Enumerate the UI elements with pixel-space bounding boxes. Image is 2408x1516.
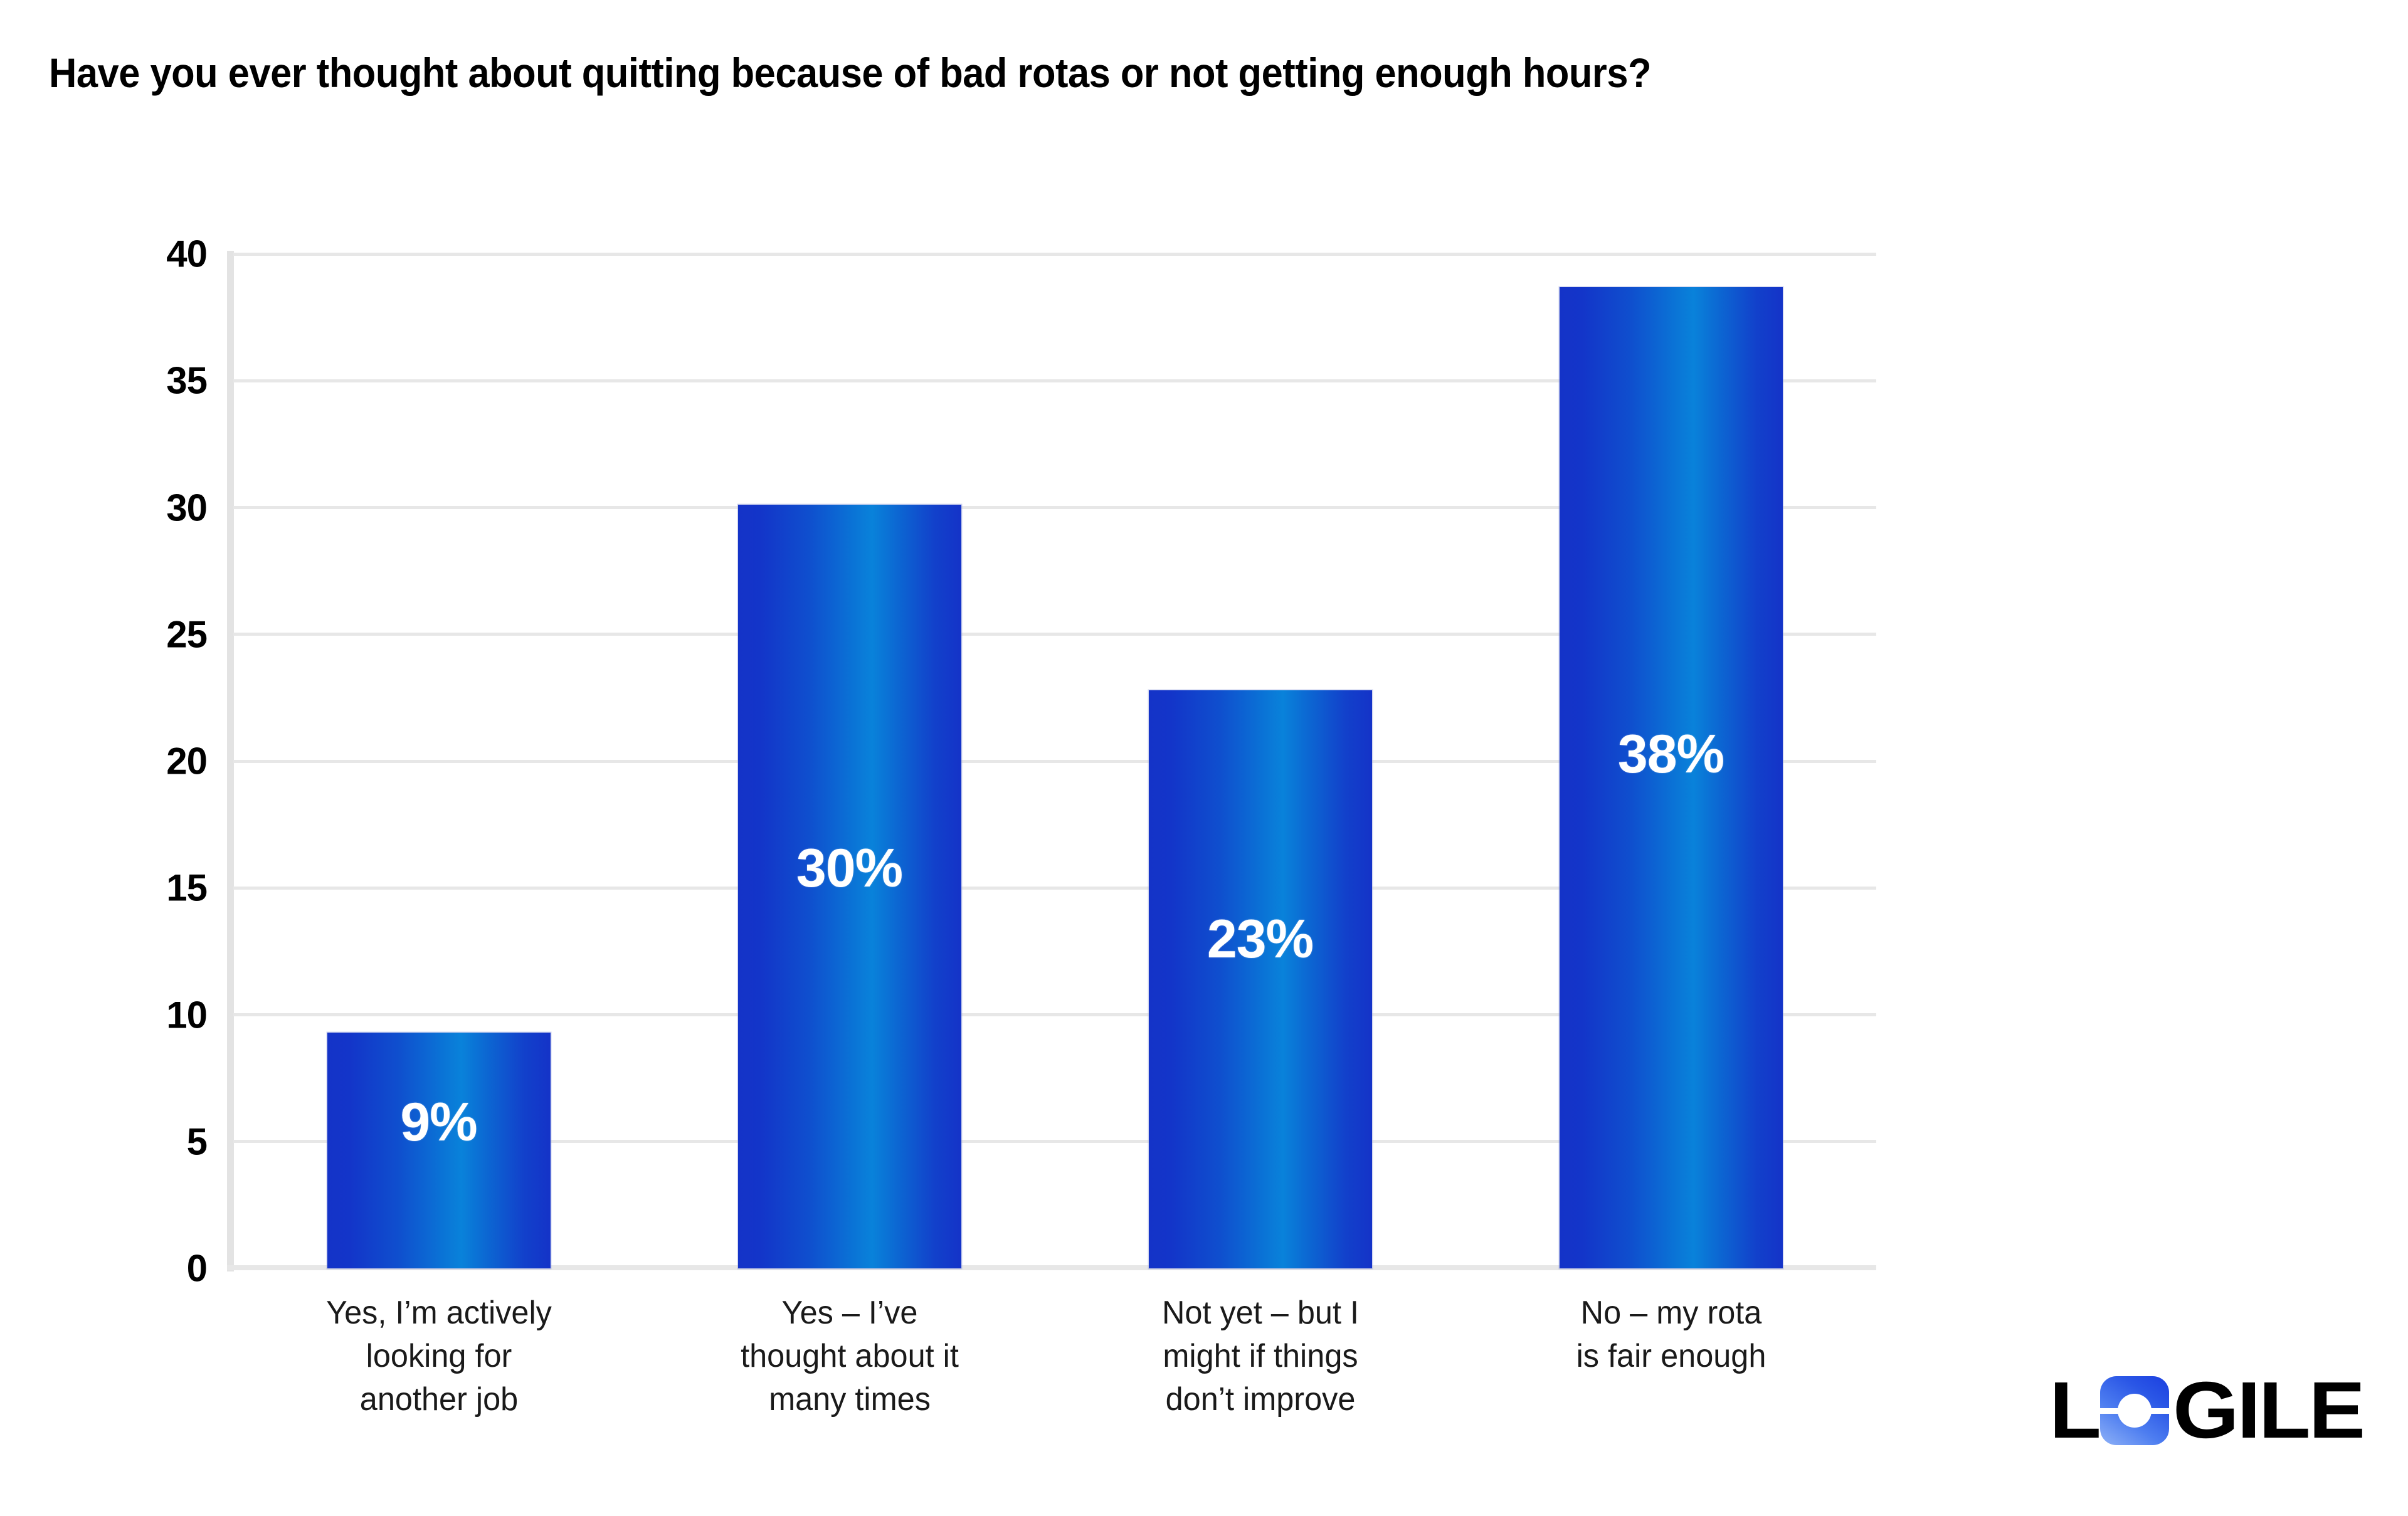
y-axis-tick-label: 35: [113, 359, 207, 403]
category-label-line: looking for: [305, 1335, 573, 1378]
category-label-line: Yes – I’ve: [716, 1292, 983, 1335]
category-label-line: No – my rota: [1537, 1292, 1805, 1335]
logile-logo: L GILE: [2049, 1372, 2353, 1450]
y-axis-tick-label: 30: [113, 486, 207, 529]
category-label-line: don’t improve: [1126, 1378, 1394, 1421]
logile-o-mark-icon: [2100, 1376, 2169, 1445]
bar-value-label: 23%: [1149, 908, 1372, 971]
gridline: [233, 253, 1876, 256]
category-label-line: thought about it: [716, 1335, 983, 1378]
bar-value-label: 9%: [327, 1092, 551, 1154]
y-axis-tick-label: 5: [113, 1120, 207, 1163]
logo-text-lead: L: [2049, 1371, 2099, 1451]
plot-area: 9%30%23%38%: [233, 254, 1876, 1268]
bar[interactable]: [1149, 690, 1372, 1268]
category-label-line: Yes, I’m actively: [305, 1292, 573, 1335]
x-axis-category-label: No – my rotais fair enough: [1537, 1292, 1805, 1378]
y-axis-tick-label: 25: [113, 613, 207, 656]
category-label-line: another job: [305, 1378, 573, 1421]
category-label-line: many times: [716, 1378, 983, 1421]
category-label-line: is fair enough: [1537, 1335, 1805, 1378]
chart-canvas: Have you ever thought about quitting bec…: [0, 0, 2408, 1516]
logo-text-trail: GILE: [2173, 1371, 2363, 1451]
y-axis-tick-label: 0: [113, 1247, 207, 1290]
category-label-line: might if things: [1126, 1335, 1394, 1378]
y-axis-tick-label: 20: [113, 740, 207, 783]
page-title: Have you ever thought about quitting bec…: [49, 50, 2148, 96]
category-label-line: Not yet – but I: [1126, 1292, 1394, 1335]
x-axis-category-label: Yes – I’vethought about itmany times: [716, 1292, 983, 1421]
bar-value-label: 30%: [738, 838, 961, 900]
logo-mark-slit: [2100, 1408, 2169, 1414]
y-axis-tick-labels: 4035302520151050: [107, 254, 207, 1268]
y-axis-tick-label: 15: [113, 866, 207, 910]
bar-value-label: 38%: [1560, 724, 1783, 786]
x-axis-category-label: Not yet – but Imight if thingsdon’t impr…: [1126, 1292, 1394, 1421]
x-axis-category-label: Yes, I’m activelylooking foranother job: [305, 1292, 573, 1421]
y-axis-tick-label: 40: [113, 233, 207, 276]
y-axis-tick-label: 10: [113, 993, 207, 1036]
